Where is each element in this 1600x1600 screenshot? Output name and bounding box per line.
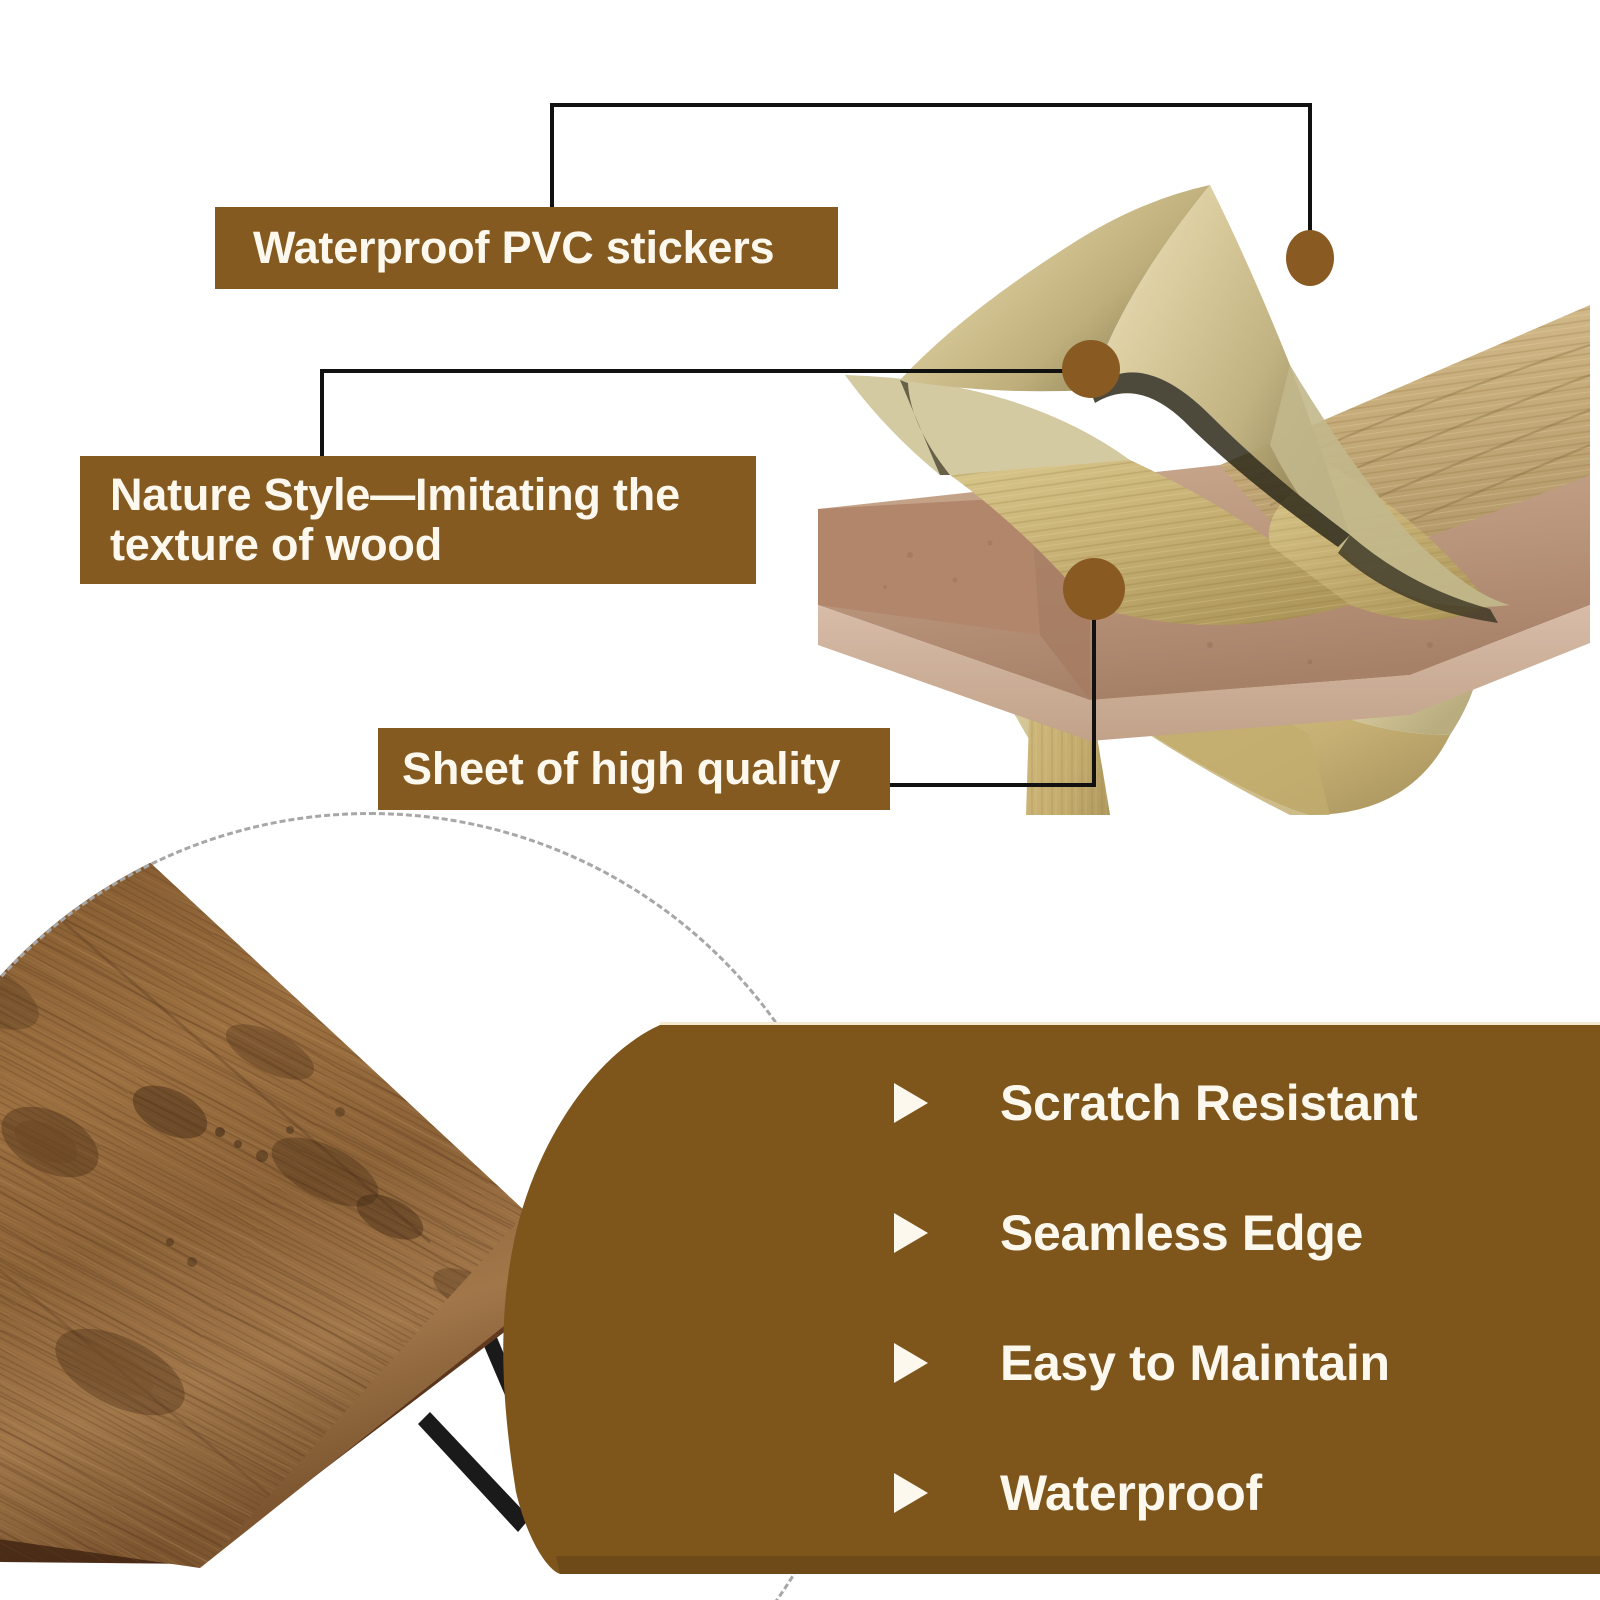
callout-waterproof-pvc-stickers: Waterproof PVC stickers (215, 207, 838, 289)
anchor-dot-sheet-quality (1063, 558, 1125, 620)
feature-item-waterproof: Waterproof (880, 1428, 1580, 1558)
callout-sheet-of-high-quality: Sheet of high quality (378, 728, 890, 810)
callout-nature-style: Nature Style—Imitating the texture of wo… (80, 456, 756, 584)
features-list: Scratch Resistant Seamless Edge Easy to … (880, 1022, 1580, 1574)
feature-label: Easy to Maintain (946, 1334, 1390, 1392)
callout-nature-line2: texture of wood (110, 520, 680, 570)
feature-label: Seamless Edge (946, 1204, 1363, 1262)
anchor-dot-nature-style (1062, 340, 1120, 398)
board-cutaway-svg (790, 175, 1600, 815)
callout-sheet-text: Sheet of high quality (402, 743, 840, 795)
callout-pvc-text: Waterproof PVC stickers (253, 222, 774, 274)
feature-label: Waterproof (946, 1464, 1262, 1522)
triangle-right-icon (890, 1210, 946, 1256)
triangle-right-icon (890, 1470, 946, 1516)
anchor-dot-pvc-sticker (1286, 230, 1334, 286)
feature-item-scratch-resistant: Scratch Resistant (880, 1038, 1580, 1168)
feature-item-easy-to-maintain: Easy to Maintain (880, 1298, 1580, 1428)
feature-item-seamless-edge: Seamless Edge (880, 1168, 1580, 1298)
feature-label: Scratch Resistant (946, 1074, 1417, 1132)
callout-nature-line1: Nature Style—Imitating the (110, 470, 680, 520)
triangle-right-icon (890, 1080, 946, 1126)
triangle-right-icon (890, 1340, 946, 1386)
layered-board-illustration (790, 175, 1600, 815)
features-panel: Scratch Resistant Seamless Edge Easy to … (0, 1022, 1600, 1574)
infographic-canvas: Waterproof PVC stickers Nature Style—Imi… (0, 0, 1600, 1600)
